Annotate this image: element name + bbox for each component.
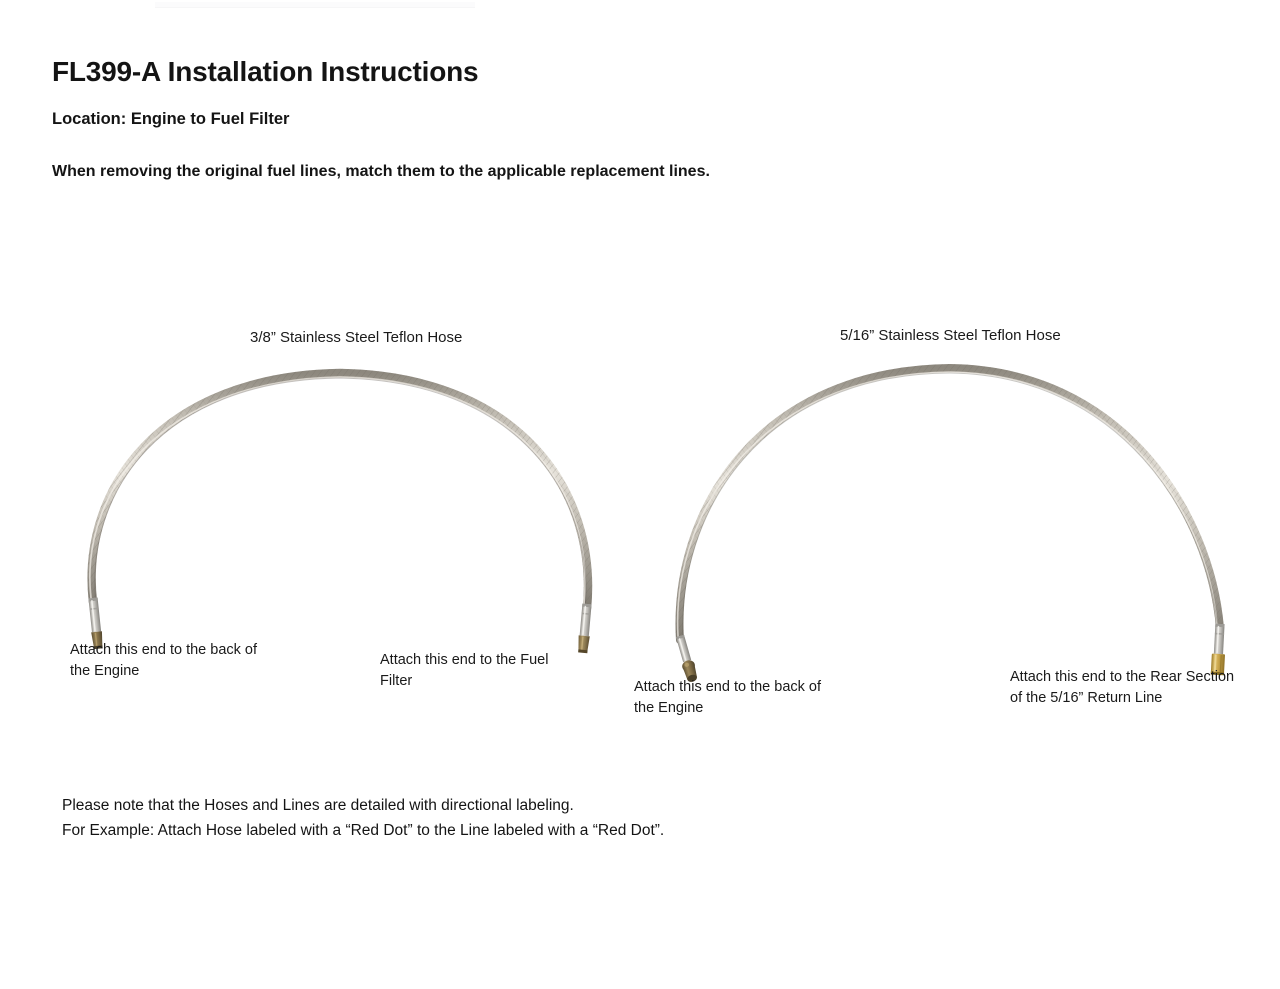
left-hose-diagram	[60, 340, 620, 660]
scan-artifact	[155, 2, 475, 8]
caption-line-2: Filter	[380, 671, 590, 692]
right-hose-diagram	[650, 340, 1250, 670]
footer-line-1: Please note that the Hoses and Lines are…	[62, 793, 664, 818]
caption-line-1: Attach this end to the back of	[634, 677, 859, 698]
caption-line-2: the Engine	[70, 661, 300, 682]
instruction-sheet-page: FL399-A Installation Instructions Locati…	[0, 0, 1280, 989]
directional-labeling-note: Please note that the Hoses and Lines are…	[62, 793, 664, 843]
left-hose-left-end-caption: Attach this end to the back of the Engin…	[70, 640, 300, 682]
right-hose-right-end-caption: Attach this end to the Rear Section of t…	[1010, 667, 1265, 709]
location-line: Location: Engine to Fuel Filter	[52, 110, 289, 129]
caption-line-2: the Engine	[634, 698, 859, 719]
caption-line-2: of the 5/16” Return Line	[1010, 688, 1265, 709]
left-hose-right-end-caption: Attach this end to the Fuel Filter	[380, 650, 590, 692]
right-hose-left-fitting	[674, 634, 699, 683]
page-title: FL399-A Installation Instructions	[52, 56, 478, 88]
caption-line-1: Attach this end to the back of	[70, 640, 300, 661]
matching-instruction: When removing the original fuel lines, m…	[52, 163, 710, 181]
left-hose-braid	[90, 373, 588, 610]
left-hose-right-fitting	[577, 604, 592, 654]
right-hose-left-end-caption: Attach this end to the back of the Engin…	[634, 677, 859, 719]
caption-line-1: Attach this end to the Fuel	[380, 650, 590, 671]
caption-line-1: Attach this end to the Rear Section	[1010, 667, 1265, 688]
right-hose-braid	[678, 368, 1220, 642]
footer-line-2: For Example: Attach Hose labeled with a …	[62, 818, 664, 843]
